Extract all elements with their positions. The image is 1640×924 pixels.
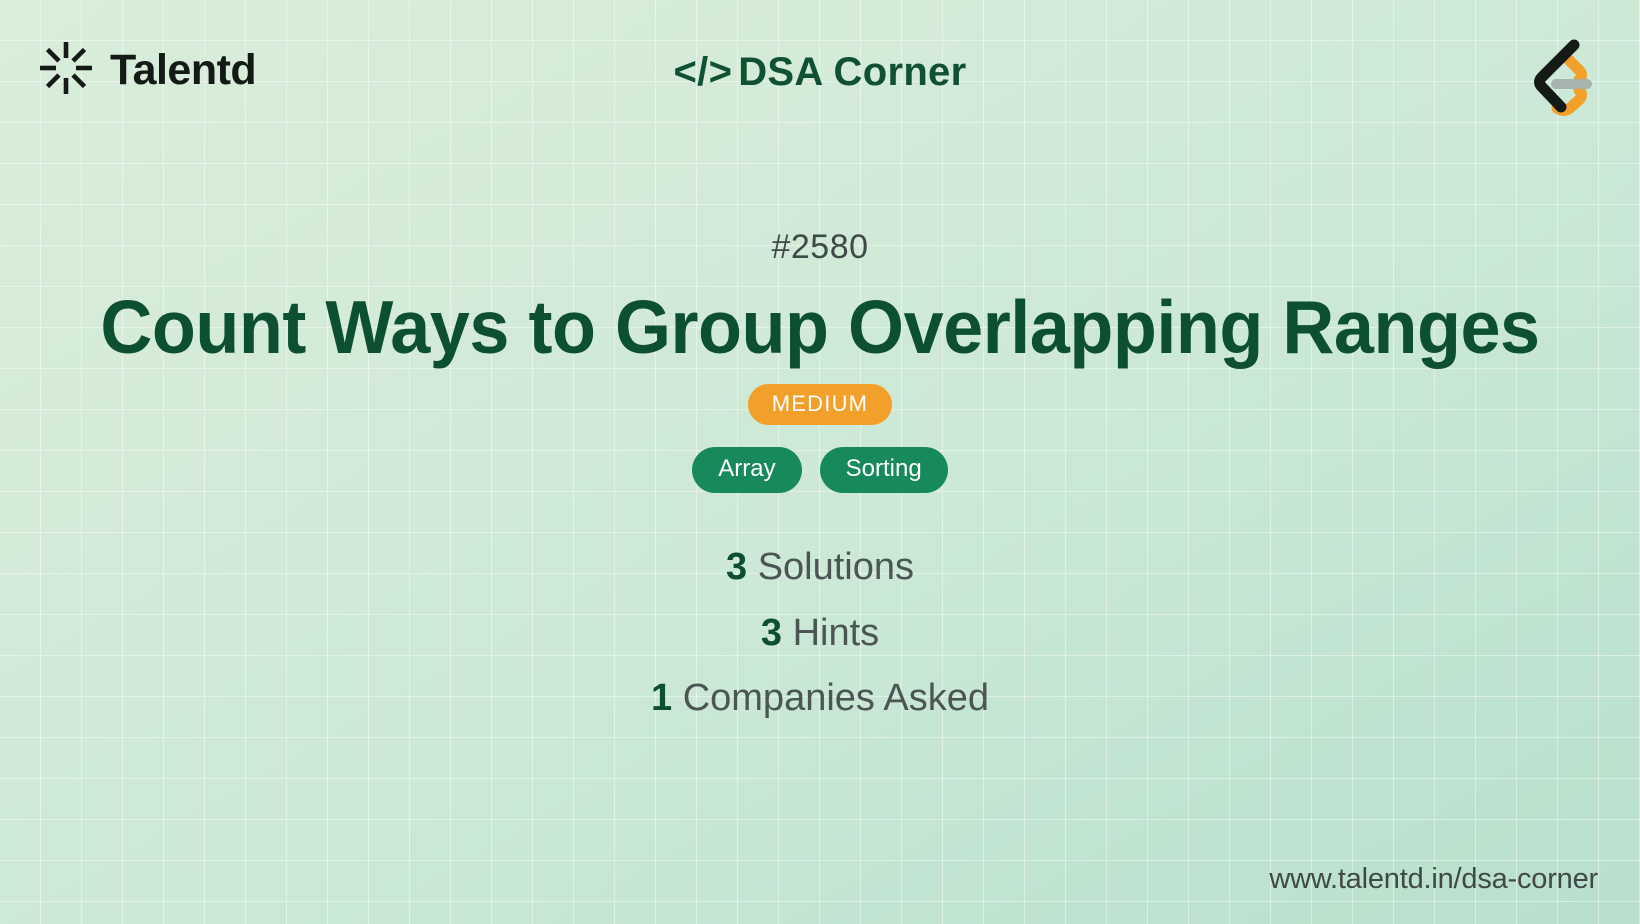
stat-value-solutions: 3 [726,546,747,588]
stat-label-solutions: Solutions [758,546,914,588]
stat-label-hints: Hints [793,612,880,654]
problem-card: #2580 Count Ways to Group Overlapping Ra… [0,230,1640,732]
tag-pill-sorting[interactable]: Sorting [820,447,948,493]
status-badge: MEDIUM [748,384,892,425]
tag-list: Array Sorting [0,447,1640,493]
stat-row-companies: 1 Companies Asked [0,666,1640,732]
page-title: Count Ways to Group Overlapping Ranges [71,288,1569,366]
stat-row-solutions: 3 Solutions [0,535,1640,601]
difficulty-badge-wrap: MEDIUM [0,384,1640,425]
code-brackets-icon: </> [674,50,733,94]
problem-number: #2580 [0,230,1640,264]
poster-canvas: Talentd </>DSA Corner #2580 Count Ways t… [0,0,1640,924]
stat-label-companies: Companies Asked [683,677,989,719]
stat-value-hints: 3 [761,612,782,654]
footer-url[interactable]: www.talentd.in/dsa-corner [1269,863,1598,896]
section-title-text: DSA Corner [738,50,966,94]
header-bar: Talentd </>DSA Corner [0,0,1640,155]
leetcode-logo-icon [1508,28,1600,125]
tag-pill-array[interactable]: Array [692,447,801,493]
stats-list: 3 Solutions 3 Hints 1 Companies Asked [0,535,1640,732]
section-title: </>DSA Corner [0,50,1640,95]
stat-value-companies: 1 [651,677,672,719]
stat-row-hints: 3 Hints [0,601,1640,667]
